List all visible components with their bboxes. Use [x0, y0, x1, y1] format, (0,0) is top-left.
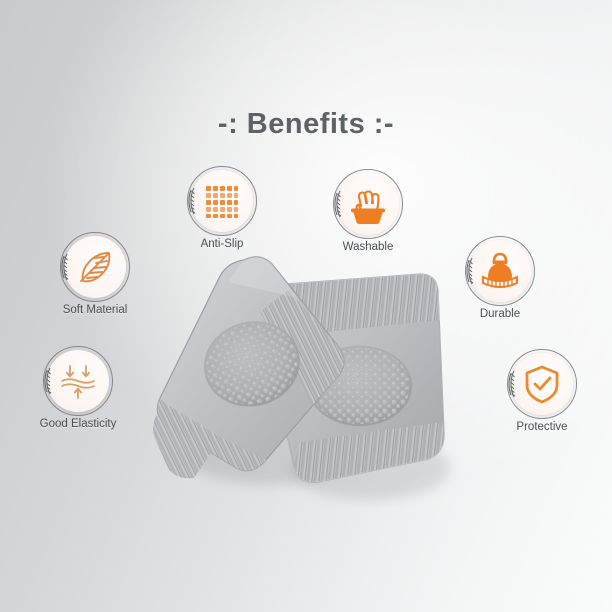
benefit-label: Good Elasticity [12, 418, 144, 430]
benefit-badge-disc [337, 173, 399, 235]
woven-grid-icon [191, 170, 253, 232]
feather-icon [64, 236, 126, 298]
benefit-label: Durable [434, 308, 566, 320]
compression-arrows-icon [47, 350, 109, 412]
benefit-label: Soft Material [29, 304, 161, 316]
hand-wash-basin-icon [337, 173, 399, 235]
benefit-badge-disc [47, 350, 109, 412]
benefit-label: Anti-Slip [156, 238, 288, 250]
benefit-label: Protective [476, 421, 608, 433]
benefit-badge-disc [469, 240, 531, 302]
benefit-badge-disc [191, 170, 253, 232]
benefit-protective[interactable]: Protective [476, 353, 608, 433]
benefit-badge-disc [511, 353, 573, 415]
page-title: -: Benefits :- [0, 108, 612, 141]
infographic-canvas: -: Benefits :- [0, 0, 612, 612]
benefit-good-elasticity[interactable]: Good Elasticity [12, 350, 144, 430]
benefit-anti-slip[interactable]: Anti-Slip [156, 170, 288, 250]
benefit-label: Washable [302, 241, 434, 253]
kettlebell-banner-icon [469, 240, 531, 302]
benefit-durable[interactable]: Durable [434, 240, 566, 320]
benefit-badge-disc [64, 236, 126, 298]
benefit-soft-material[interactable]: Soft Material [29, 236, 161, 316]
product-image [148, 246, 468, 508]
benefit-washable[interactable]: Washable [302, 173, 434, 253]
shield-check-icon [511, 353, 573, 415]
